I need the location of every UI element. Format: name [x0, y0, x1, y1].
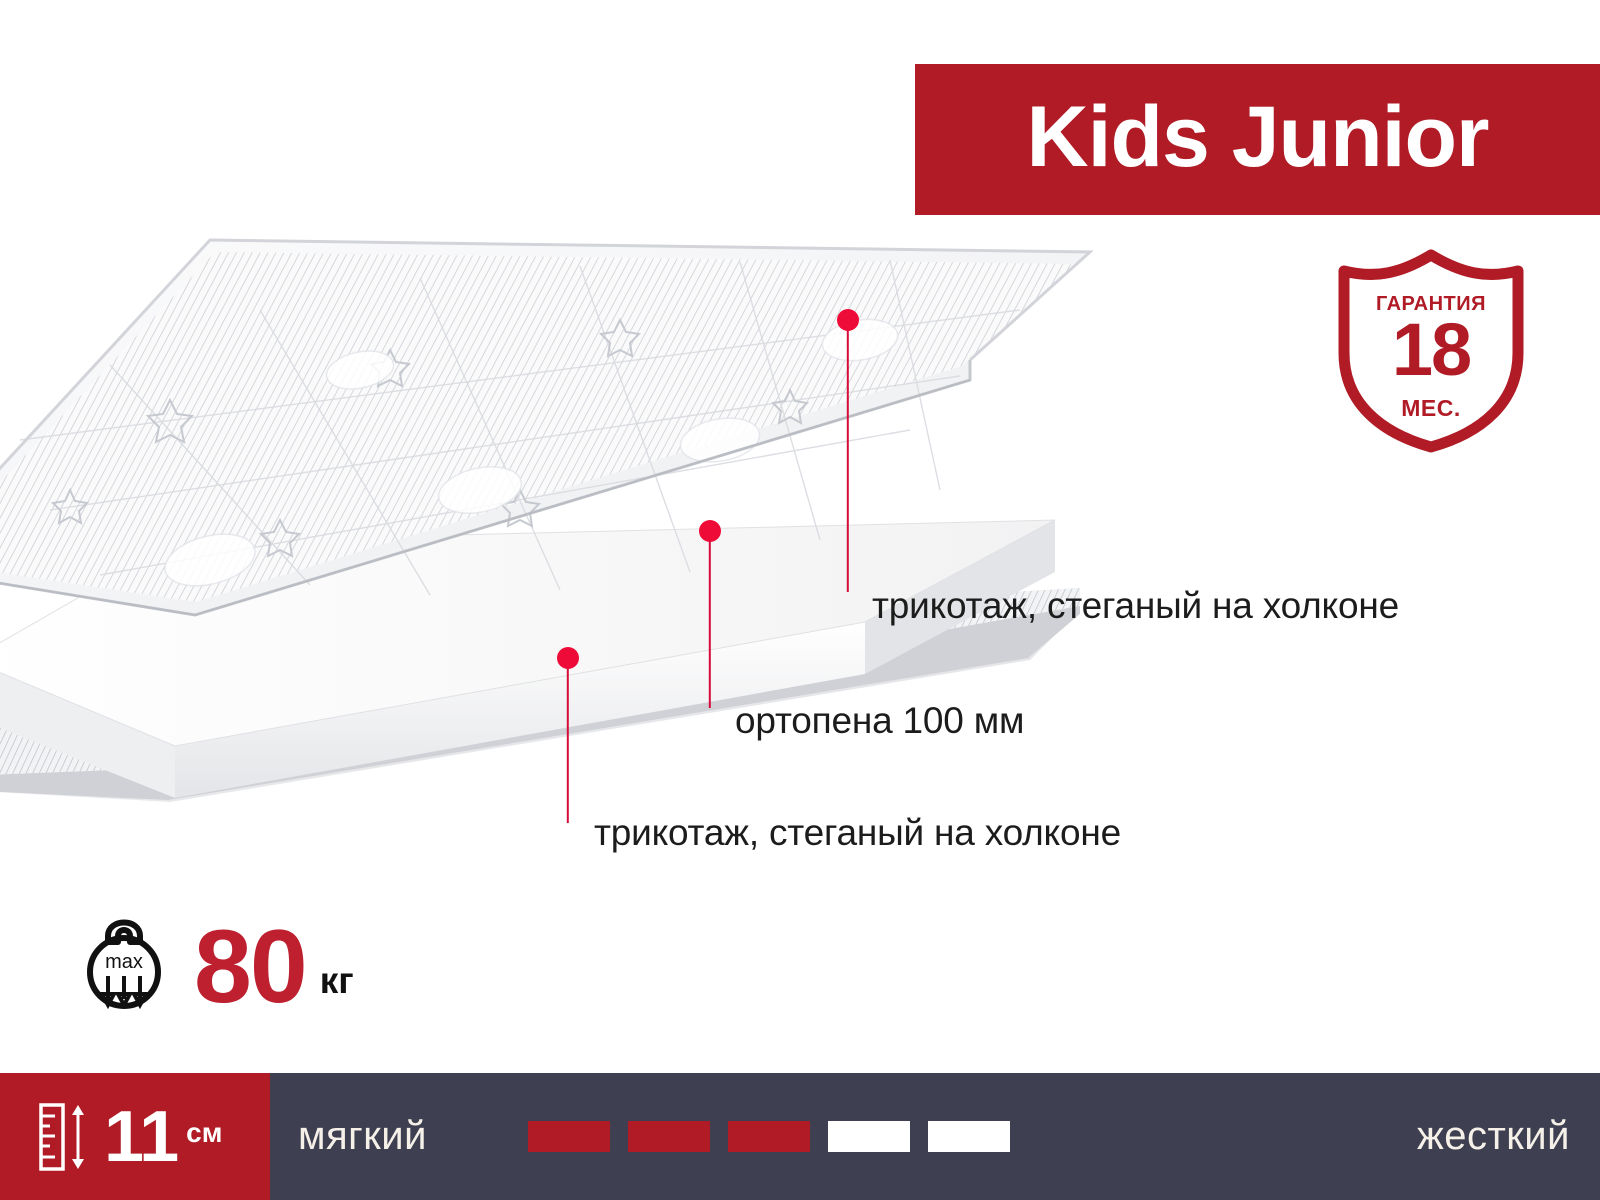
svg-text:max: max: [105, 951, 143, 973]
firmness-scale: [528, 1121, 1010, 1152]
firmness-segment-2: [628, 1121, 710, 1152]
product-title-banner: Kids Junior: [915, 64, 1600, 215]
firmness-soft-label: мягкий: [298, 1114, 427, 1159]
guarantee-badge: ГАРАНТИЯ 18 МЕС.: [1331, 243, 1531, 453]
firmness-segment-3: [728, 1121, 810, 1152]
callout-label-top-knit: трикотаж, стеганый на холконе: [872, 585, 1399, 627]
firmness-panel: мягкий жесткий: [270, 1073, 1600, 1200]
callout-dot-bottom-knit: [557, 647, 579, 669]
firmness-segment-1: [528, 1121, 610, 1152]
callout-line-bottom-knit: [567, 668, 569, 823]
callout-label-bottom-knit: трикотаж, стеганый на холконе: [594, 812, 1121, 854]
spec-bottom-bar: 11 см мягкий жесткий: [0, 1073, 1600, 1200]
height-panel: 11 см: [0, 1073, 270, 1200]
max-weight-unit: кг: [320, 960, 354, 1014]
callout-dot-top-knit: [837, 309, 859, 331]
height-value: 11: [104, 1101, 178, 1173]
height-unit: см: [186, 1117, 222, 1157]
guarantee-unit: МЕС.: [1331, 395, 1531, 422]
callout-label-foam-core: ортопена 100 мм: [735, 700, 1024, 742]
mattress-illustration: [0, 190, 1120, 850]
kettlebell-icon: max: [78, 902, 170, 1014]
firmness-hard-label: жесткий: [1417, 1114, 1570, 1159]
firmness-segment-5: [928, 1121, 1010, 1152]
firmness-segment-4: [828, 1121, 910, 1152]
infographic-canvas: Kids Junior ГАРАНТИЯ 18 МЕС. трикотаж, с…: [0, 0, 1600, 1200]
page-title: Kids Junior: [1026, 94, 1488, 180]
callout-line-top-knit: [847, 330, 849, 592]
guarantee-value: 18: [1331, 313, 1531, 387]
callout-line-foam-core: [709, 541, 711, 708]
ruler-icon: [38, 1101, 88, 1173]
callout-dot-foam-core: [699, 520, 721, 542]
max-weight-value: 80: [194, 922, 306, 1014]
max-weight-block: max 80 кг: [78, 902, 354, 1014]
